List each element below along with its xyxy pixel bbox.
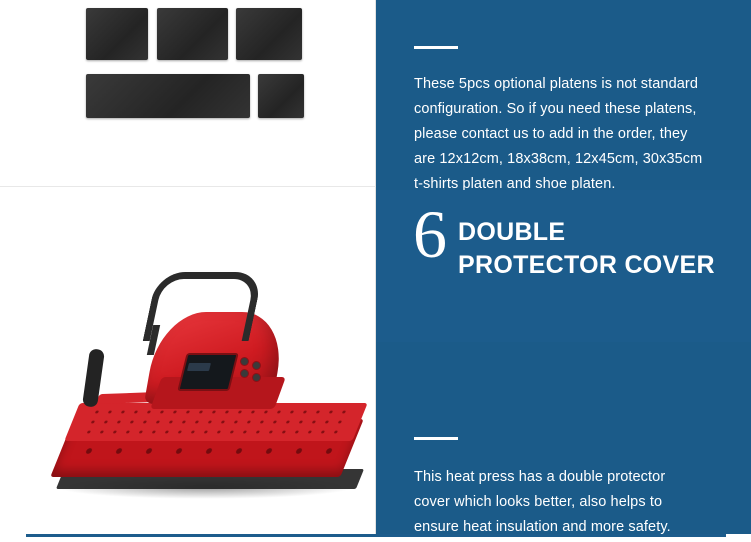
machine-handle-bar: [143, 272, 264, 341]
machine-button-2: [252, 361, 261, 370]
heat-press-illustration: [0, 187, 375, 535]
machine-button-4: [252, 373, 261, 382]
machine-display-readout: [187, 363, 211, 371]
platen-shape-2: [157, 8, 228, 60]
platen-shape-3: [236, 8, 302, 60]
machine-button-3: [240, 369, 249, 378]
protector-cover-paragraph: This heat press has a double protector c…: [414, 465, 704, 540]
right-text-column: These 5pcs optional platens is not stand…: [376, 0, 751, 542]
platen-shape-4: [86, 74, 250, 118]
feature-title: DOUBLE PROTECTOR COVER: [458, 216, 715, 282]
machine-button-1: [240, 357, 249, 366]
product-detail-page: These 5pcs optional platens is not stand…: [0, 0, 751, 542]
divider-rule-bottom: [414, 437, 458, 440]
platen-shape-1: [86, 8, 148, 60]
feature-title-line1: DOUBLE: [458, 216, 715, 249]
platens-paragraph: These 5pcs optional platens is not stand…: [414, 72, 704, 197]
machine-base-perforations: [80, 407, 355, 439]
protector-cover-info-block: This heat press has a double protector c…: [376, 342, 751, 534]
machine-control-display: [177, 353, 238, 391]
platens-info-block: These 5pcs optional platens is not stand…: [376, 0, 751, 190]
bottom-accent-rule: [26, 534, 726, 537]
machine-base-diamond-pattern: [69, 439, 357, 463]
platen-shape-5: [258, 74, 304, 118]
divider-rule-top: [414, 46, 458, 49]
platens-photo-panel: [0, 0, 376, 187]
heat-press-photo-panel: [0, 187, 376, 535]
left-image-column: [0, 0, 376, 542]
feature-title-line2: PROTECTOR COVER: [458, 249, 715, 282]
feature-number: 6: [413, 200, 447, 268]
